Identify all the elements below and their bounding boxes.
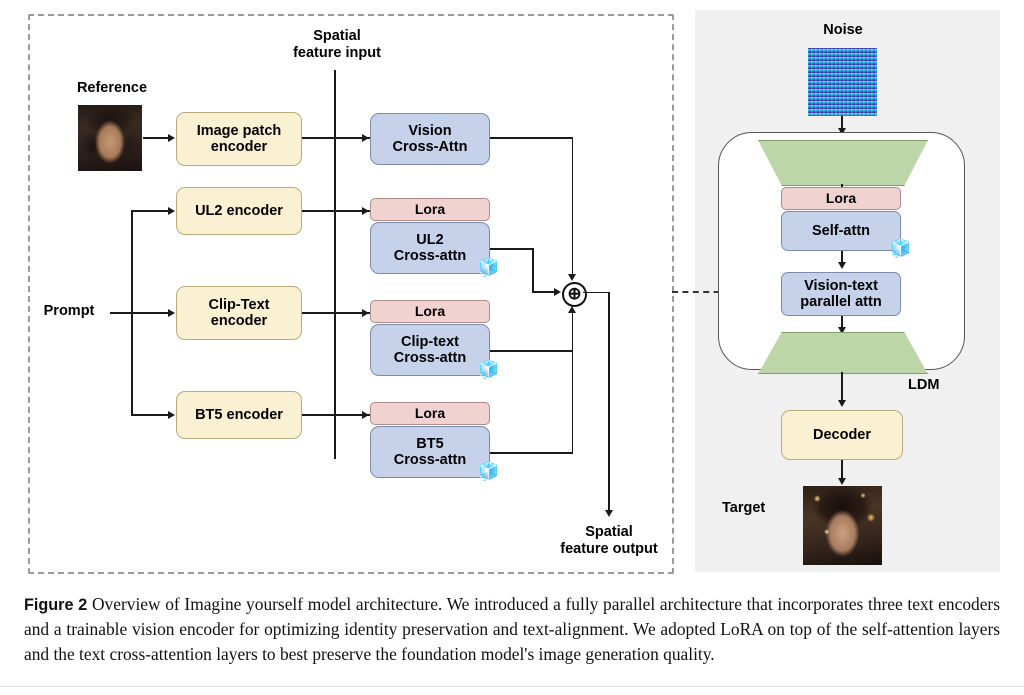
connector-ul2-out — [490, 248, 534, 250]
spatial-output-line2: feature output — [546, 541, 672, 558]
figure-diagram: Reference Spatial feature input Image pa… — [0, 0, 1024, 585]
vision-text-line1: Vision-text — [800, 278, 881, 294]
clip-frozen-ice-cube-icon: 🧊 — [478, 361, 499, 378]
bt5-lora-label: Lora — [415, 406, 445, 422]
ul2-frozen-ice-cube-icon: 🧊 — [478, 259, 499, 276]
figure-caption: Figure 2 Overview of Imagine yourself mo… — [24, 592, 1000, 666]
vision-cross-attn-line1: Vision — [393, 123, 468, 139]
spatial-input-line2: feature input — [272, 45, 402, 62]
self-attn-node[interactable]: Self-attn — [781, 211, 901, 251]
clip-lora-label: Lora — [415, 304, 445, 320]
decoder-label: Decoder — [813, 427, 871, 443]
vision-text-line2: parallel attn — [800, 294, 881, 310]
prompt-label: Prompt — [30, 303, 108, 320]
clip-text-encoder-line2: encoder — [209, 313, 270, 329]
connector-sum-down — [608, 292, 610, 514]
ul2-encoder-label: UL2 encoder — [195, 203, 283, 219]
clip-cross-attn-line1: Clip-text — [394, 334, 467, 350]
arrowhead-spatial-output — [605, 510, 613, 517]
bt5-lora-node[interactable]: Lora — [370, 402, 490, 425]
bt5-cross-attn-node[interactable]: BT5 Cross-attn — [370, 426, 490, 478]
target-face-image — [803, 486, 882, 565]
arrowhead-vision-to-sum — [568, 274, 576, 281]
connector-ul2enc-to-lora — [302, 210, 370, 212]
ul2-lora-label: Lora — [415, 202, 445, 218]
connector-prompt-bus — [131, 210, 133, 416]
image-patch-encoder-line1: Image patch — [197, 123, 282, 139]
vision-cross-attn-line2: Cross-Attn — [393, 139, 468, 155]
ul2-encoder-node[interactable]: UL2 encoder — [176, 187, 302, 235]
connector-ref-to-encoder — [143, 137, 169, 139]
connector-clip-out — [490, 350, 573, 352]
connector-vision-out — [490, 137, 573, 139]
spatial-feature-output-label: Spatial feature output — [546, 524, 672, 558]
ul2-cross-attn-line2: Cross-attn — [394, 248, 467, 264]
ul2-cross-attn-node[interactable]: UL2 Cross-attn — [370, 222, 490, 274]
arrowhead-ul2-to-sum — [554, 288, 561, 296]
connector-bt5-up — [572, 350, 574, 452]
connector-prompt-to-ul2 — [131, 210, 169, 212]
arrowhead-bt5enc-to-lora — [362, 411, 369, 419]
bt5-cross-attn-line1: BT5 — [394, 436, 467, 452]
connector-bt5enc-to-lora — [302, 414, 370, 416]
arrowhead-selfattn-to-visiontext — [838, 262, 846, 269]
connector-bt5-out — [490, 452, 573, 454]
figure-number: Figure 2 — [24, 596, 87, 614]
arrowhead-clipenc-to-lora — [362, 309, 369, 317]
figure-caption-text: Overview of Imagine yourself model archi… — [24, 594, 1000, 664]
ul2-cross-attn-line1: UL2 — [394, 232, 467, 248]
arrowhead-ldm-to-decoder — [838, 400, 846, 407]
arrowhead-clip-to-sum — [568, 306, 576, 313]
image-patch-encoder-node[interactable]: Image patch encoder — [176, 112, 302, 166]
spatial-output-line1: Spatial — [546, 524, 672, 541]
noise-image — [808, 48, 877, 116]
arrowhead-prompt-to-clip — [168, 309, 175, 317]
decoder-node[interactable]: Decoder — [781, 410, 903, 460]
page-bottom-divider — [0, 686, 1024, 687]
clip-text-cross-attn-node[interactable]: Clip-text Cross-attn — [370, 324, 490, 376]
summation-node: ⊕ — [562, 282, 587, 307]
connector-imgenc-to-vision — [302, 137, 370, 139]
connector-vision-down — [572, 137, 574, 277]
vision-cross-attn-node[interactable]: Vision Cross-Attn — [370, 113, 490, 165]
self-attn-frozen-ice-cube-icon: 🧊 — [890, 240, 911, 257]
target-label: Target — [722, 500, 792, 517]
connector-clipenc-to-lora — [302, 312, 370, 314]
ldm-lora-node[interactable]: Lora — [781, 187, 901, 210]
arrowhead-prompt-to-bt5 — [168, 411, 175, 419]
reference-face-image — [78, 105, 142, 171]
clip-text-encoder-line1: Clip-Text — [209, 297, 270, 313]
self-attn-label: Self-attn — [812, 223, 870, 239]
ldm-lora-label: Lora — [826, 191, 856, 207]
arrowhead-ul2enc-to-lora — [362, 207, 369, 215]
clip-text-encoder-node[interactable]: Clip-Text encoder — [176, 286, 302, 340]
arrowhead-imgenc-to-vision — [362, 134, 369, 142]
page-root: Reference Spatial feature input Image pa… — [0, 0, 1024, 695]
summation-symbol: ⊕ — [567, 285, 581, 302]
image-patch-encoder-line2: encoder — [197, 139, 282, 155]
arrowhead-ref-to-encoder — [168, 134, 175, 142]
connector-ul2-down — [532, 248, 534, 292]
bt5-encoder-node[interactable]: BT5 encoder — [176, 391, 302, 439]
bt5-frozen-ice-cube-icon: 🧊 — [478, 463, 499, 480]
connector-prompt-stem — [110, 312, 169, 314]
vision-text-parallel-attn-node[interactable]: Vision-text parallel attn — [781, 272, 901, 316]
clip-lora-node[interactable]: Lora — [370, 300, 490, 323]
arrowhead-prompt-to-ul2 — [168, 207, 175, 215]
arrowhead-decoder-to-target — [838, 478, 846, 485]
noise-label: Noise — [790, 22, 896, 39]
ul2-lora-node[interactable]: Lora — [370, 198, 490, 221]
connector-prompt-to-bt5 — [131, 414, 169, 416]
ldm-decoder-trapezoid — [758, 332, 928, 374]
clip-cross-attn-line2: Cross-attn — [394, 350, 467, 366]
reference-label: Reference — [62, 80, 162, 97]
ldm-encoder-trapezoid — [758, 140, 928, 186]
spatial-input-line1: Spatial — [272, 28, 402, 45]
spatial-feature-input-label: Spatial feature input — [272, 28, 402, 62]
bt5-cross-attn-line2: Cross-attn — [394, 452, 467, 468]
connector-clip-up — [572, 310, 574, 350]
spatial-feature-input-bus — [334, 70, 336, 459]
ldm-label: LDM — [908, 377, 964, 394]
bt5-encoder-label: BT5 encoder — [195, 407, 283, 423]
connector-sum-out — [583, 292, 610, 294]
